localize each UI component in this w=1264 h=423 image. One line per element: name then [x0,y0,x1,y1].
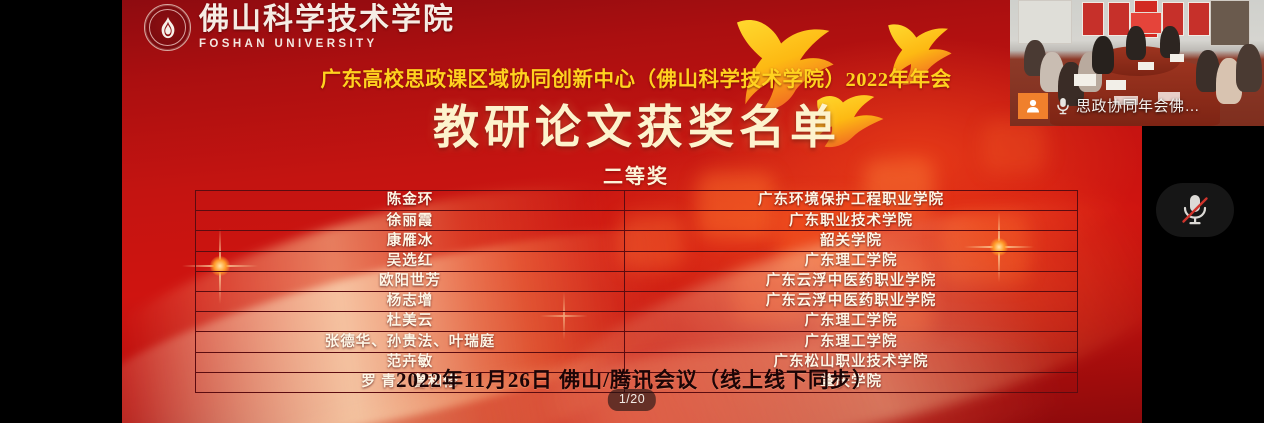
awardee-school-cell: 广东理工学院 [625,332,1078,352]
table-row: 陈金环广东环境保护工程职业学院 [196,191,1078,211]
awardee-school-cell: 广东环境保护工程职业学院 [625,191,1078,211]
university-branding: 佛山科学技术学院 FOSHAN UNIVERSITY [144,4,455,51]
awardee-school-cell: 广东职业技术学院 [625,211,1078,231]
university-name-cn: 佛山科学技术学院 [199,5,455,35]
awardee-school-cell: 广东云浮中医药职业学院 [625,291,1078,311]
awardee-name-cell: 康雁冰 [196,231,625,251]
table-row: 吴选红广东理工学院 [196,251,1078,271]
awardee-school-cell: 广东理工学院 [625,251,1078,271]
awardee-school-cell: 广东理工学院 [625,312,1078,332]
participant-name-label: 思政协同年会佛… [1018,93,1200,119]
slide-main-title: 教研论文获奖名单 [122,104,1142,152]
awardee-name-cell: 吴选红 [196,251,625,271]
awardee-name-cell: 徐丽霞 [196,211,625,231]
participant-video-tile[interactable]: 思政协同年会佛… [1010,0,1264,126]
table-row: 欧阳世芳广东云浮中医药职业学院 [196,271,1078,291]
table-row: 张德华、孙贵法、叶瑞庭广东理工学院 [196,332,1078,352]
person-icon [1018,93,1048,119]
presentation-slide: 佛山科学技术学院 FOSHAN UNIVERSITY 广东高校思政课区域协同创新… [122,0,1142,423]
microphone-muted-icon[interactable] [1156,183,1234,237]
awardee-name-cell: 张德华、孙贵法、叶瑞庭 [196,332,625,352]
conference-subtitle: 广东高校思政课区域协同创新中心（佛山科学技术学院）2022年年会 [122,62,1142,92]
award-level-heading: 二等奖 [122,160,1142,189]
awardee-school-cell: 韶关学院 [625,231,1078,251]
table-row: 杜美云广东理工学院 [196,312,1078,332]
awardee-school-cell: 广东云浮中医药职业学院 [625,271,1078,291]
award-list-table: 陈金环广东环境保护工程职业学院徐丽霞广东职业技术学院康雁冰韶关学院吴选红广东理工… [195,190,1078,393]
awardee-name-cell: 陈金环 [196,191,625,211]
screen: 佛山科学技术学院 FOSHAN UNIVERSITY 广东高校思政课区域协同创新… [0,0,1264,423]
participant-name-text: 思政协同年会佛… [1076,99,1200,114]
flame-glyph [157,16,179,40]
awardee-name-cell: 杜美云 [196,312,625,332]
page-indicator: 1/20 [608,389,656,411]
awardee-name-cell: 杨志增 [196,291,625,311]
university-name-en: FOSHAN UNIVERSITY [199,39,455,51]
awardee-name-cell: 欧阳世芳 [196,271,625,291]
table-row: 康雁冰韶关学院 [196,231,1078,251]
university-seal-icon [144,4,191,51]
table-row: 杨志增广东云浮中医药职业学院 [196,291,1078,311]
table-row: 徐丽霞广东职业技术学院 [196,211,1078,231]
microphone-icon [1056,97,1070,115]
